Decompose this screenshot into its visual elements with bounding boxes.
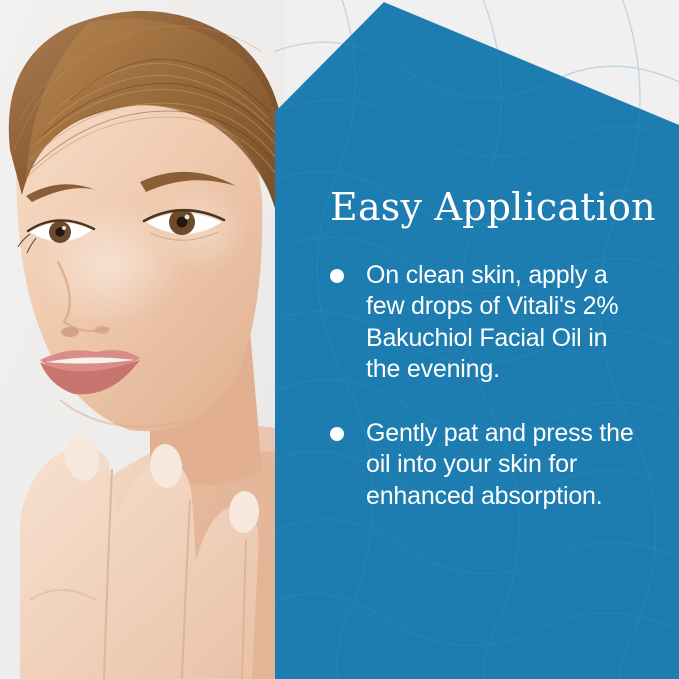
page-title: Easy Application	[330, 188, 640, 228]
list-item-text: Gently pat and press the oil into your s…	[366, 419, 634, 510]
dot-bullet-icon	[330, 269, 344, 283]
product-infographic-canvas: Easy Application On clean skin, apply a …	[0, 0, 679, 679]
instruction-list: On clean skin, apply a few drops of Vita…	[330, 260, 640, 513]
list-item: Gently pat and press the oil into your s…	[330, 418, 640, 513]
list-item-text: On clean skin, apply a few drops of Vita…	[366, 261, 618, 384]
list-item: On clean skin, apply a few drops of Vita…	[330, 260, 640, 386]
panel-content: Easy Application On clean skin, apply a …	[330, 188, 640, 512]
model-photo-illustration	[0, 0, 285, 679]
model-photo	[0, 0, 285, 679]
dot-bullet-icon	[330, 427, 344, 441]
